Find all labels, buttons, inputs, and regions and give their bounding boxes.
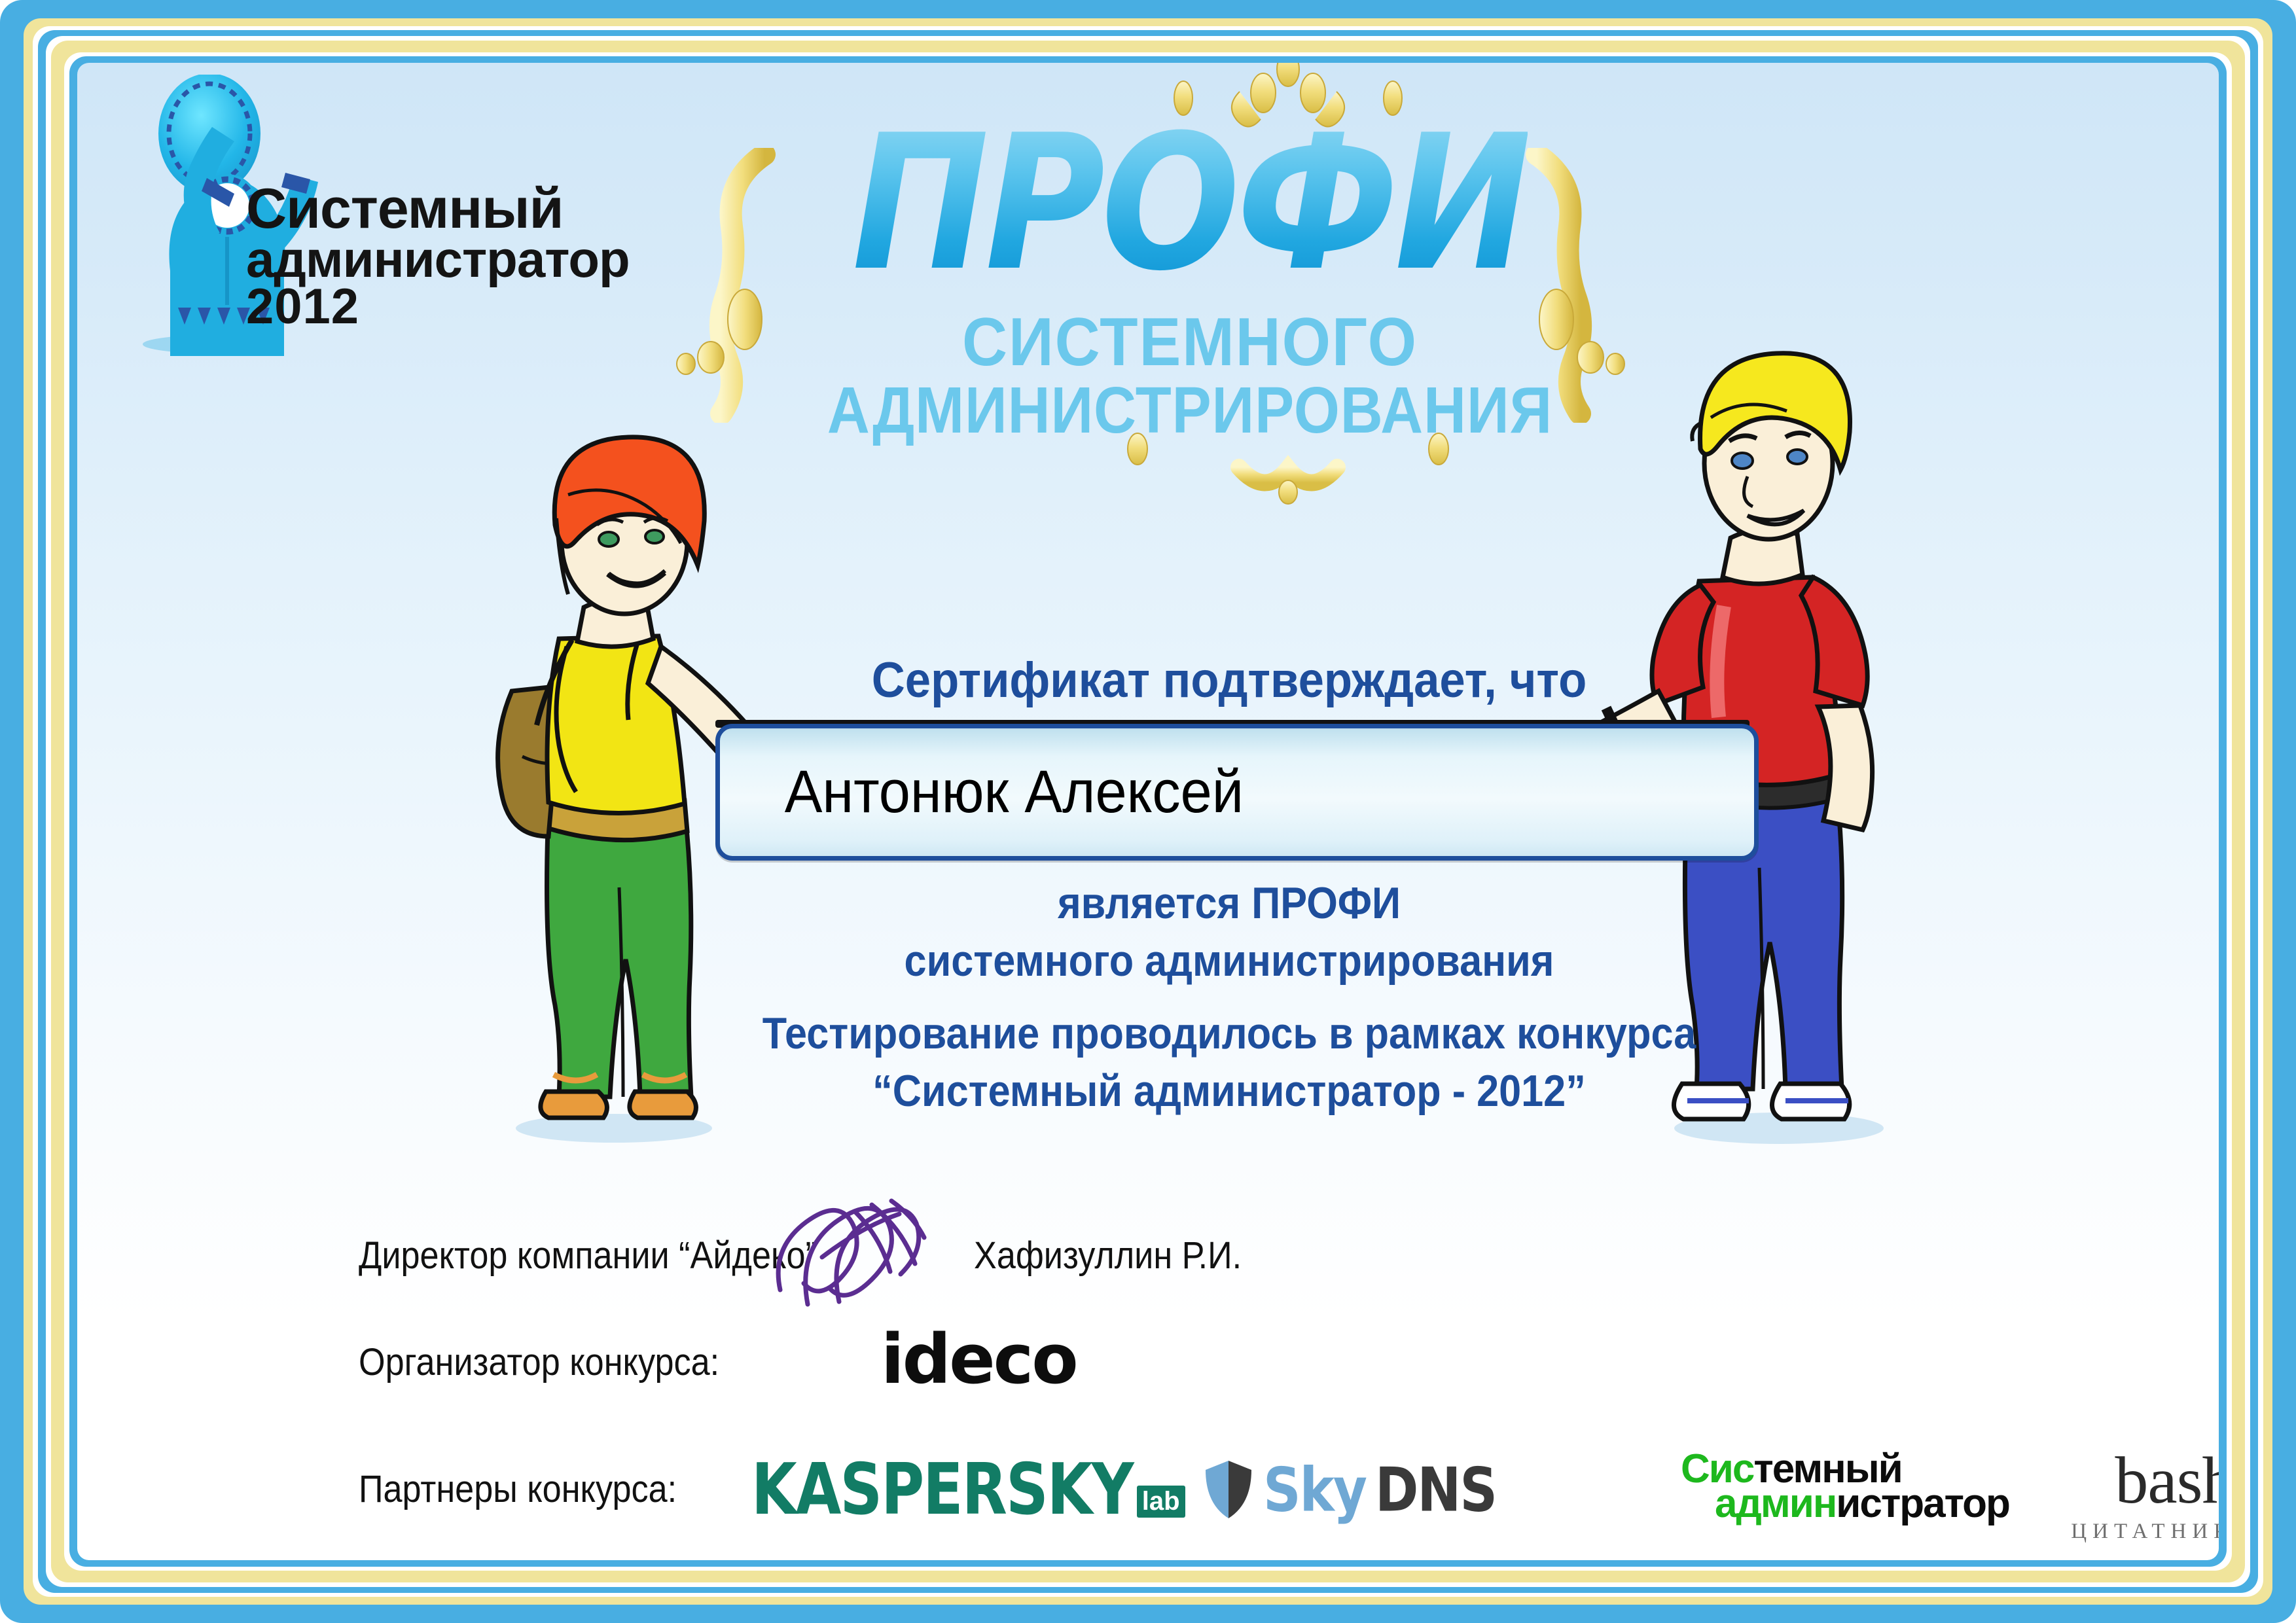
bash-wordmark: bash.im bbox=[2060, 1448, 2219, 1514]
kaspersky-lab-badge: lab bbox=[1137, 1486, 1185, 1518]
certificate-inner-canvas: Системный администратор 2012 ПРОФИ СИСТЕ… bbox=[77, 63, 2219, 1560]
ideco-wordmark: ideco bbox=[881, 1319, 1077, 1399]
organizer-row: Организатор конкурса: ideco bbox=[359, 1326, 1471, 1418]
certificate-page: Системный администратор 2012 ПРОФИ СИСТЕ… bbox=[0, 0, 2296, 1623]
ideco-logo: ideco bbox=[791, 1319, 1077, 1399]
headline-block: ПРОФИ СИСТЕМНОГО АДМИНИСТРИРОВАНИЯ bbox=[745, 122, 1635, 444]
headline-profi: ПРОФИ bbox=[852, 111, 1528, 297]
partners-row: Партнеры конкурса: KASPERSKY lab Sky DNS… bbox=[359, 1444, 2126, 1542]
recipient-nameplate: Антонюк Алексей bbox=[715, 724, 1759, 861]
body-line-1: является ПРОФИ bbox=[723, 874, 1736, 932]
bash-tagline: ЦИТАТНИК РУНЕТА bbox=[2060, 1520, 2219, 1544]
skydns-logo: Sky DNS bbox=[1203, 1458, 1496, 1521]
signature-title: Директор компании “Айдеко” bbox=[359, 1234, 817, 1277]
shield-icon bbox=[1203, 1458, 1254, 1521]
kaspersky-wordmark: KASPERSKY bbox=[751, 1449, 1133, 1531]
emblem-line-3: 2012 bbox=[246, 283, 704, 330]
body-line-3: Тестирование проводилось в рамках конкур… bbox=[723, 1005, 1736, 1062]
signature-scribble-icon bbox=[757, 1192, 953, 1316]
emblem-line-1: Системный bbox=[246, 183, 704, 236]
signature-row: Директор компании “Айдеко” Хафизуллин Р.… bbox=[359, 1218, 1504, 1303]
kaspersky-lab-logo: KASPERSKY lab bbox=[751, 1455, 1185, 1524]
organizer-label: Организатор конкурса: bbox=[359, 1340, 719, 1384]
dns-text: DNS bbox=[1375, 1454, 1496, 1525]
sysadmin-l2-green: админ bbox=[1715, 1481, 1836, 1526]
sky-text: Sky bbox=[1263, 1454, 1366, 1525]
body-line-2: системного администрирования bbox=[723, 932, 1736, 990]
sysadmin-l2-black: истратор bbox=[1836, 1481, 2009, 1526]
signatory-name: Хафизуллин Р.И. bbox=[974, 1234, 1242, 1277]
confirm-line: Сертификат подтверждает, что bbox=[736, 652, 1723, 709]
sysadmin-magazine-logo: Системный администратор bbox=[1681, 1452, 2009, 1522]
recipient-name: Антонюк Алексей bbox=[720, 758, 1692, 827]
certificate-body: является ПРОФИ системного администрирова… bbox=[666, 874, 1792, 1120]
sysadmin-2012-emblem: Системный администратор 2012 bbox=[97, 75, 372, 356]
bash-im-logo: bash.im ЦИТАТНИК РУНЕТА bbox=[2060, 1448, 2219, 1544]
body-line-4: “Системный администратор - 2012” bbox=[723, 1062, 1736, 1120]
headline-sub-2: АДМИНИСТРИРОВАНИЯ bbox=[789, 377, 1590, 444]
headline-sub-1: СИСТЕМНОГО bbox=[780, 308, 1599, 377]
partners-label: Партнеры конкурса: bbox=[359, 1467, 677, 1511]
sysadmin-line-2: администратор bbox=[1715, 1486, 2009, 1521]
emblem-text-block: Системный администратор 2012 bbox=[246, 183, 704, 330]
emblem-line-2: администратор bbox=[246, 236, 704, 283]
ideco-mark-icon bbox=[791, 1320, 869, 1399]
